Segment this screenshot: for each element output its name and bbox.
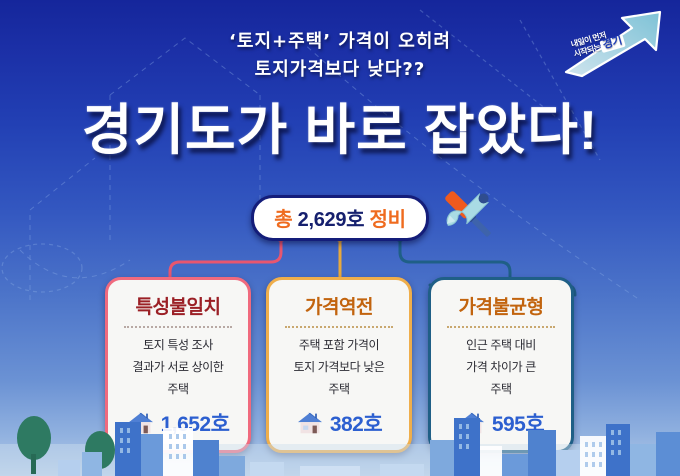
- subtitle-line-2: 토지가격보다 낮다??: [0, 56, 680, 84]
- card-divider: [447, 326, 555, 328]
- card-body-line-2: 결과가 서로 상이한: [133, 356, 224, 378]
- building-group-right: [430, 418, 680, 476]
- cityscape-illustration: [0, 404, 680, 476]
- card-body: 주택 포함 가격이 토지 가격보다 낮은 주택: [288, 334, 391, 401]
- card-divider: [124, 326, 232, 328]
- card-title: 가격역전: [305, 292, 373, 319]
- card-body-line-1: 주택 포함 가격이: [294, 334, 385, 356]
- card-divider: [285, 326, 393, 328]
- subtitle: ‘토지+주택’ 가격이 오히려 토지가격보다 낮다??: [0, 28, 680, 84]
- summary-badge[interactable]: 총 2,629호 정비: [251, 195, 429, 241]
- page-title: 경기도가 바로 잡았다!: [0, 103, 680, 158]
- card-body: 토지 특성 조사 결과가 서로 상이한 주택: [127, 334, 230, 401]
- card-body: 인근 주택 대비 가격 차이가 큰 주택: [460, 334, 542, 401]
- card-body-line-3: 주택: [466, 378, 536, 400]
- subtitle-line-1: ‘토지+주택’ 가격이 오히려: [0, 28, 680, 56]
- card-body-line-3: 주택: [294, 378, 385, 400]
- card-body-line-3: 주택: [133, 378, 224, 400]
- badge-count: 2,629호: [298, 209, 365, 231]
- badge-prefix: 총: [274, 209, 292, 231]
- card-body-line-2: 토지 가격보다 낮은: [294, 356, 385, 378]
- summary-badge-wrapper: 총 2,629호 정비: [0, 195, 680, 241]
- badge-suffix: 정비: [370, 209, 406, 231]
- card-title: 특성불일치: [136, 292, 221, 319]
- card-body-line-1: 인근 주택 대비: [466, 334, 536, 356]
- card-body-line-2: 가격 차이가 큰: [466, 356, 536, 378]
- card-body-line-1: 토지 특성 조사: [133, 334, 224, 356]
- card-title: 가격불균형: [459, 292, 544, 319]
